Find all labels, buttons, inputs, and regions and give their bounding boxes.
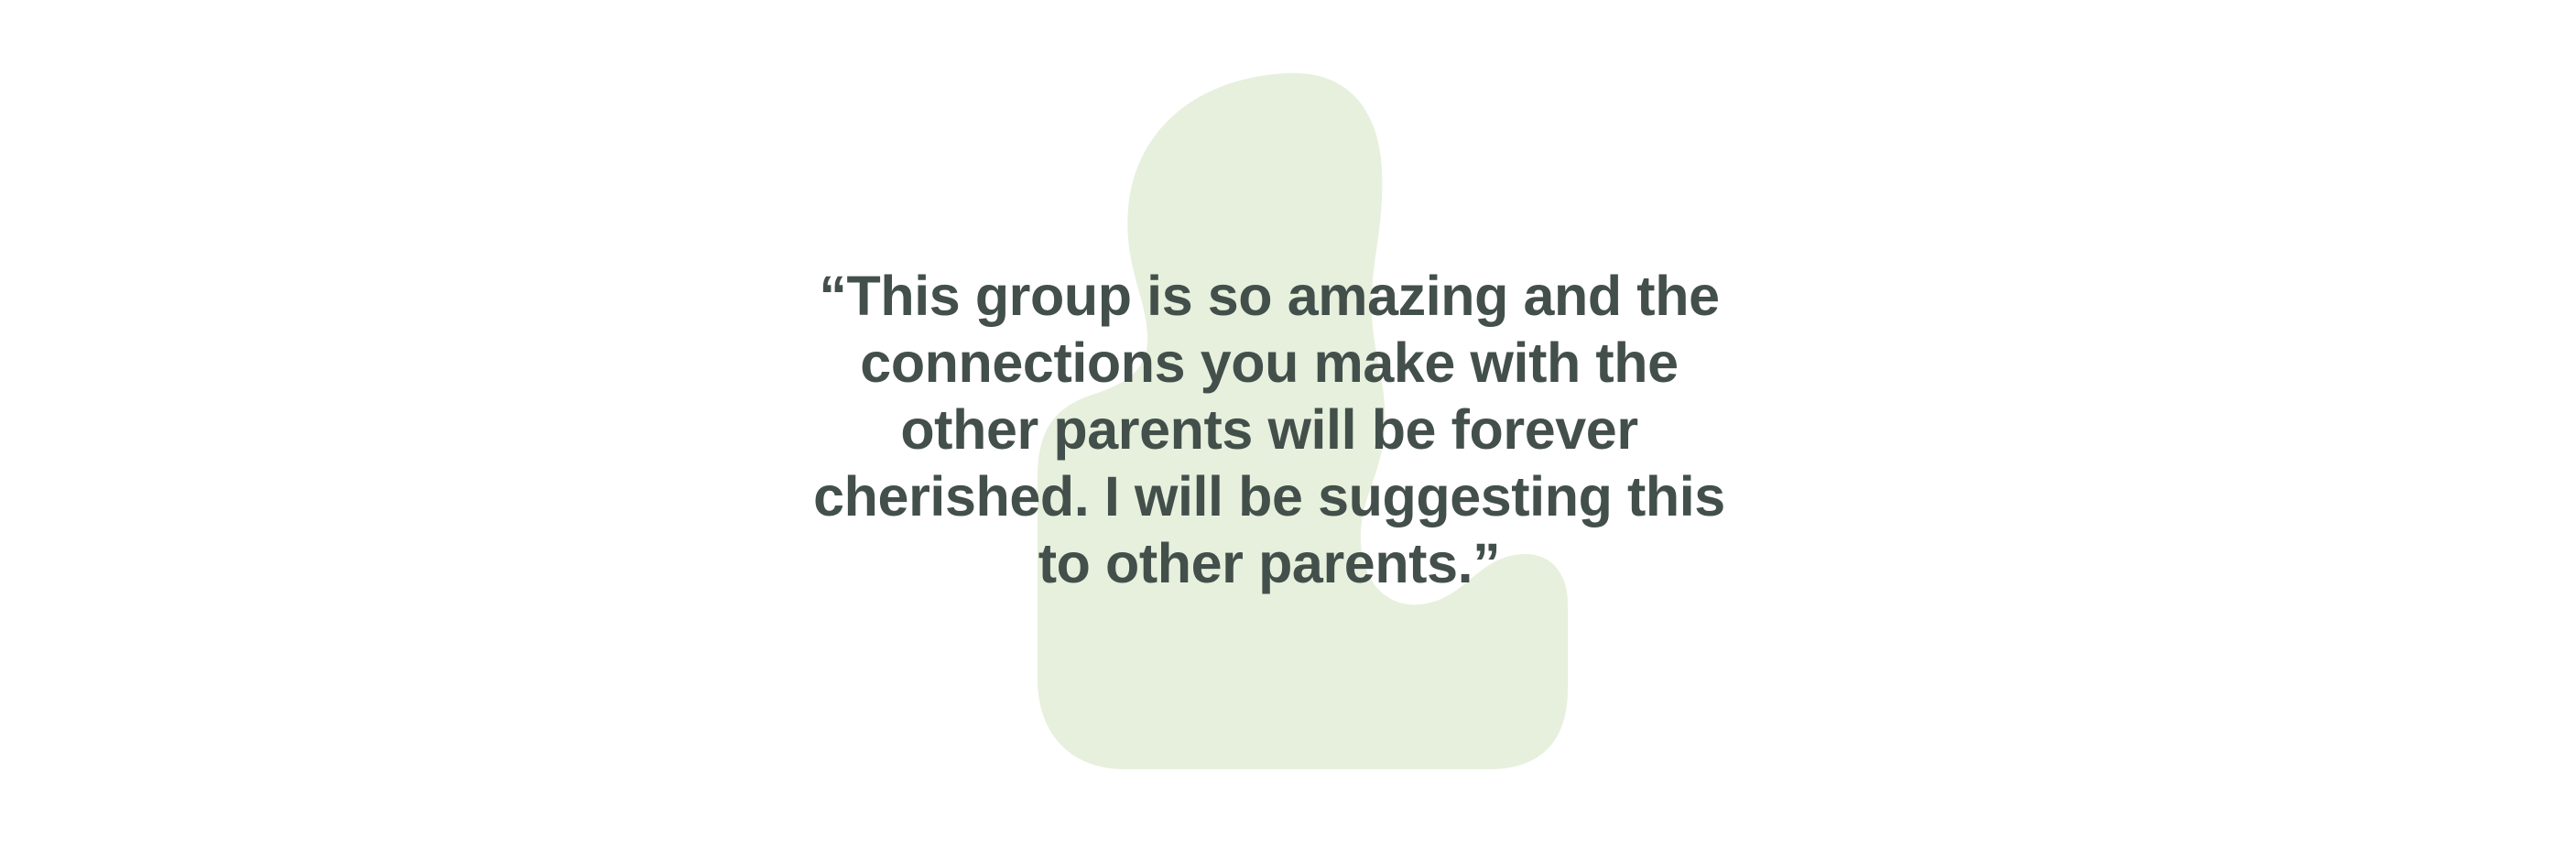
quote-line-5: to other parents.” <box>729 530 1810 597</box>
quote-line-3: other parents will be forever <box>729 397 1810 463</box>
quote-line-4: cherished. I will be suggesting this <box>729 463 1810 530</box>
testimonial-quote: “This group is so amazing and the connec… <box>729 263 1810 597</box>
testimonial-card: “This group is so amazing and the connec… <box>0 0 2576 859</box>
quote-line-1: “This group is so amazing and the <box>729 263 1810 330</box>
quote-line-2: connections you make with the <box>729 330 1810 397</box>
quote-container: “This group is so amazing and the connec… <box>0 0 2576 859</box>
